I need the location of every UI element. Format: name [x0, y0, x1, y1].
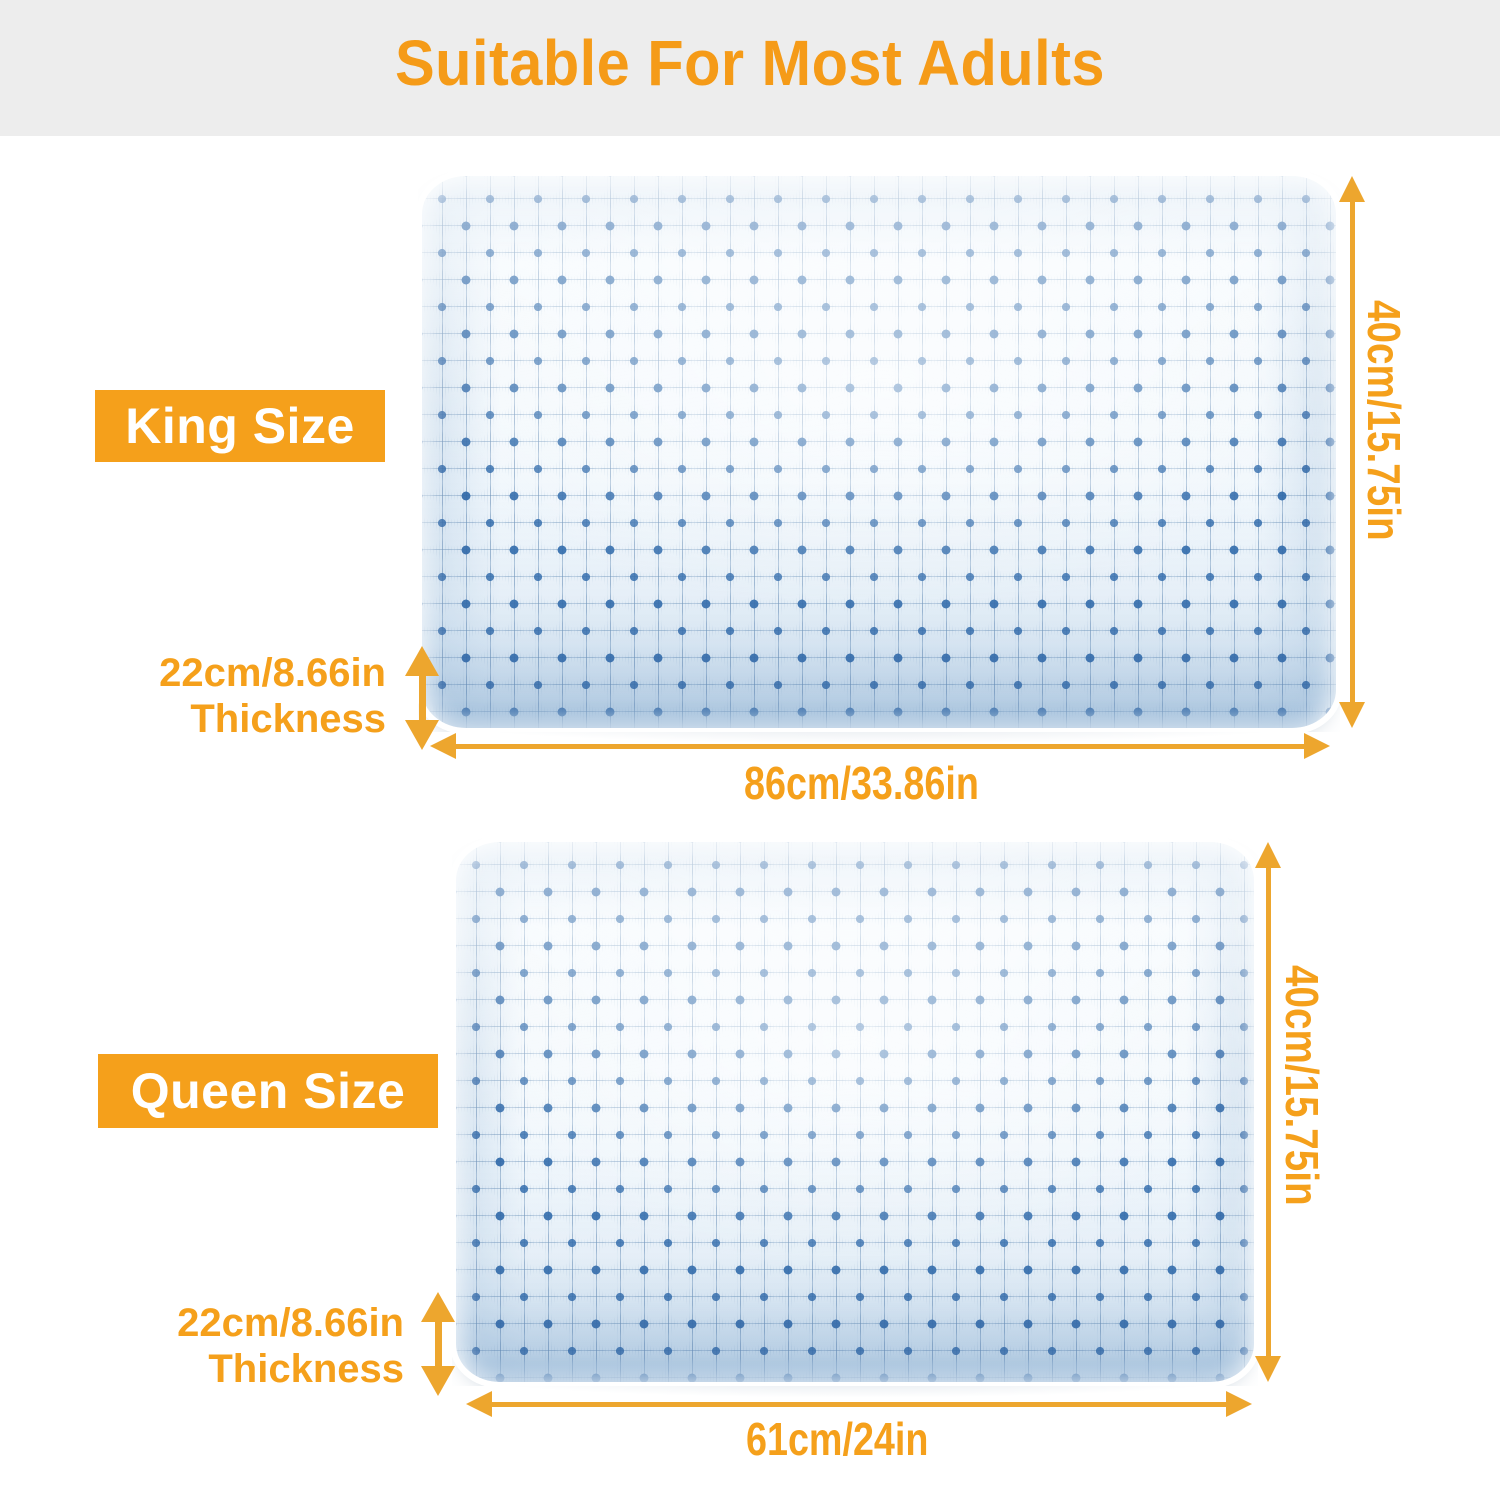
- pillow-fabric-texture: [418, 172, 1340, 732]
- pillow-image-queen: [452, 838, 1258, 1386]
- thickness-arrow-queen: [416, 1292, 460, 1396]
- arrow-head-down-icon: [405, 720, 439, 750]
- arrow-shaft: [419, 674, 426, 722]
- arrow-head-down-icon: [1339, 702, 1365, 728]
- height-label-queen: 40cm/15.75in: [1275, 965, 1329, 1206]
- pillow-image-king: [418, 172, 1340, 732]
- page-title: Suitable For Most Adults: [53, 26, 1448, 100]
- size-badge-king: King Size: [95, 390, 385, 462]
- thickness-label-queen: 22cm/8.66in Thickness: [136, 1300, 404, 1392]
- infographic-canvas: Suitable For Most Adults King Size 86cm/…: [0, 0, 1500, 1500]
- thickness-word-queen: Thickness: [136, 1346, 404, 1392]
- arrow-head-right-icon: [1304, 733, 1330, 759]
- arrow-head-up-icon: [1255, 842, 1281, 868]
- thickness-label-king: 22cm/8.66in Thickness: [118, 650, 386, 742]
- arrow-head-up-icon: [421, 1292, 455, 1322]
- pillow-fabric-texture: [452, 838, 1258, 1386]
- arrow-shaft: [435, 1320, 442, 1368]
- thickness-value-king: 22cm/8.66in: [118, 650, 386, 696]
- width-label-king: 86cm/33.86in: [744, 756, 979, 810]
- arrow-head-right-icon: [1226, 1391, 1252, 1417]
- thickness-value-queen: 22cm/8.66in: [136, 1300, 404, 1346]
- arrow-shaft: [1350, 190, 1355, 714]
- thickness-word-king: Thickness: [118, 696, 386, 742]
- arrow-head-up-icon: [1339, 176, 1365, 202]
- arrow-shaft: [442, 744, 1318, 749]
- arrow-head-left-icon: [466, 1391, 492, 1417]
- arrow-head-down-icon: [1255, 1356, 1281, 1382]
- width-label-queen: 61cm/24in: [746, 1412, 928, 1466]
- thickness-arrow-king: [400, 646, 444, 750]
- arrow-head-down-icon: [421, 1366, 455, 1396]
- arrow-shaft: [1266, 856, 1271, 1368]
- arrow-head-up-icon: [405, 646, 439, 676]
- arrow-shaft: [478, 1402, 1240, 1407]
- height-label-king: 40cm/15.75in: [1357, 300, 1411, 541]
- size-badge-queen: Queen Size: [98, 1054, 438, 1128]
